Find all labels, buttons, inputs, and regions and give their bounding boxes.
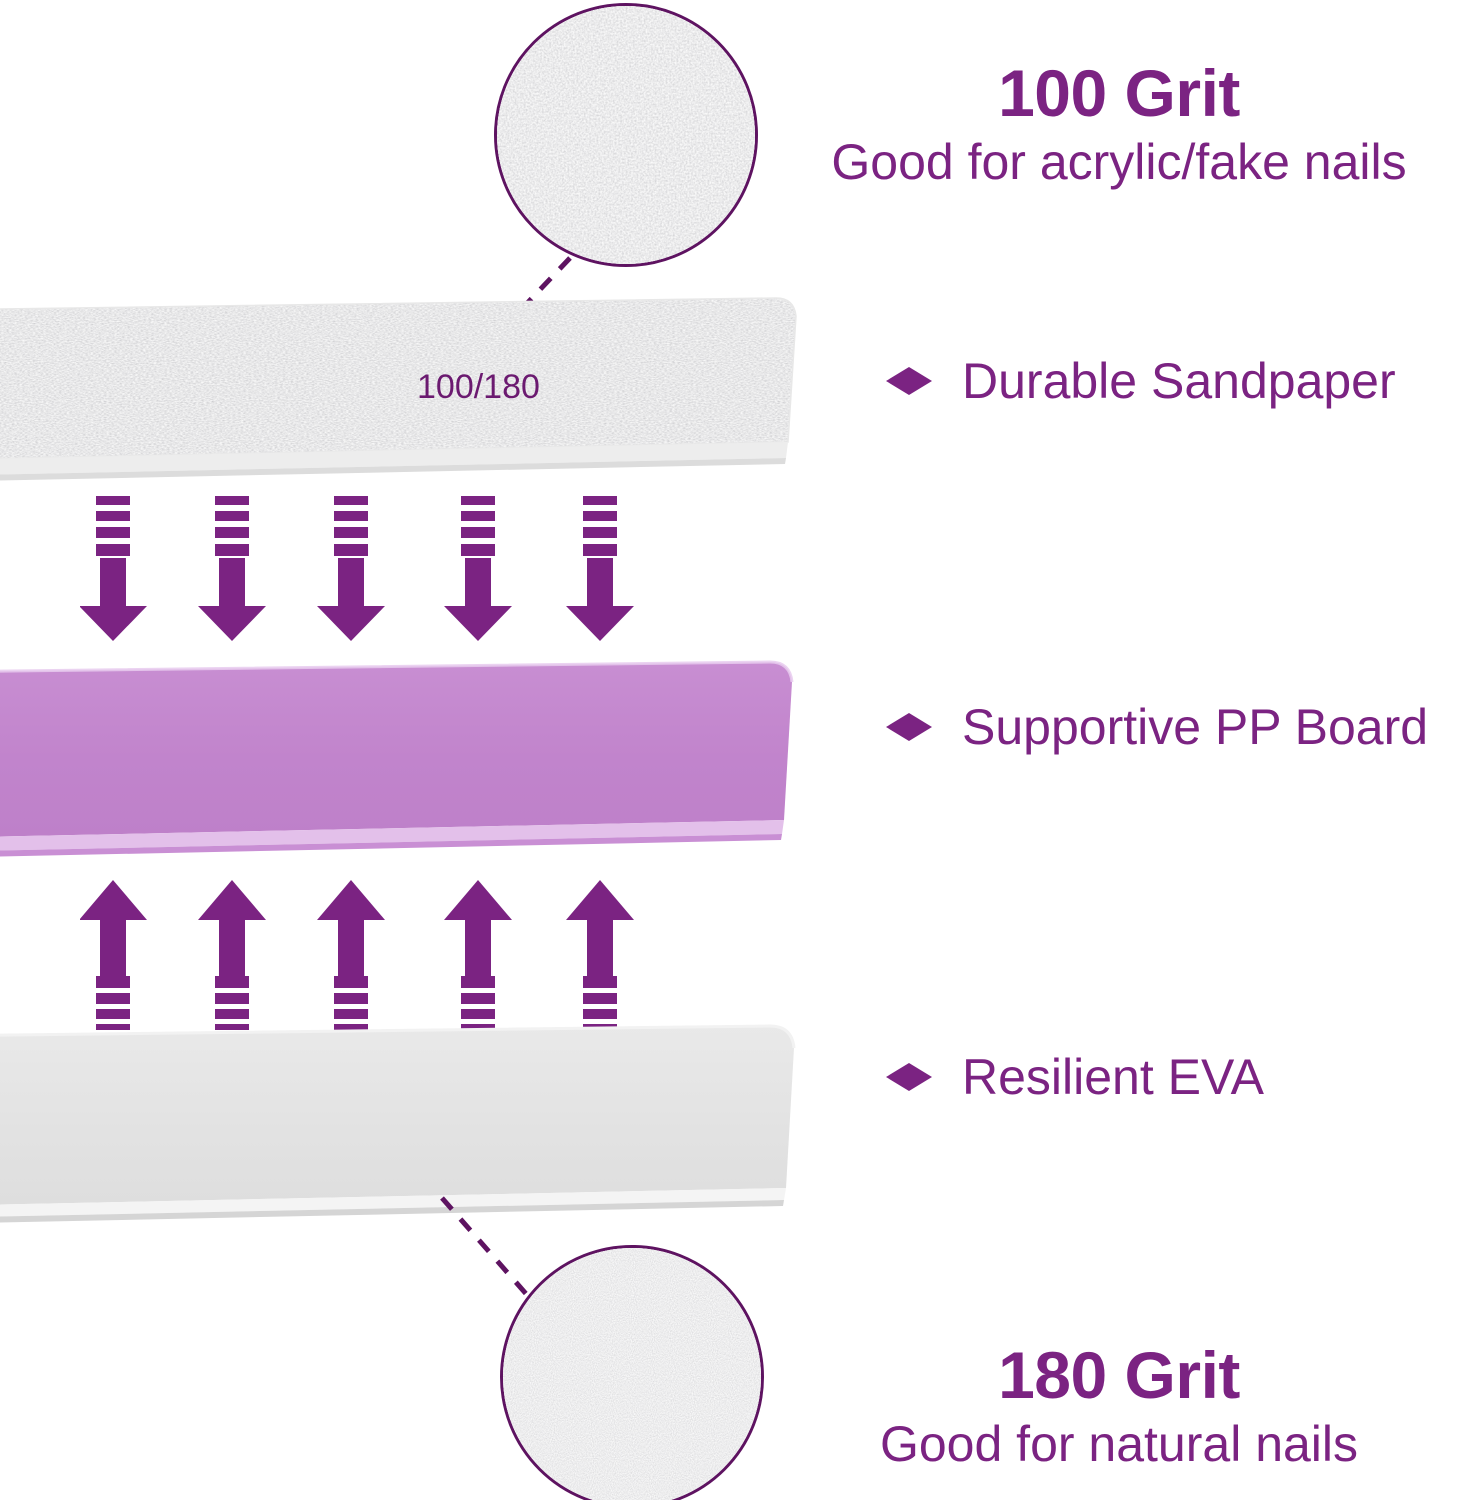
pp-board-layer bbox=[0, 650, 820, 850]
feature-label-resilient-eva: Resilient EVA bbox=[962, 1048, 1264, 1106]
sandpaper-strip-shape bbox=[0, 292, 820, 492]
bottom-grit-callout: 180 Grit Good for natural nails bbox=[760, 1340, 1478, 1471]
diamond-bullet-icon bbox=[886, 713, 932, 741]
infographic-canvas: 100 Grit Good for acrylic/fake nails bbox=[0, 0, 1478, 1500]
fine-grain-texture bbox=[503, 1248, 761, 1500]
pp-board-strip-shape bbox=[0, 650, 820, 850]
eva-strip-shape bbox=[0, 1008, 820, 1218]
arrow-group-down bbox=[80, 496, 680, 646]
diamond-bullet-icon bbox=[886, 367, 932, 395]
diamond-bullet-icon bbox=[886, 1063, 932, 1091]
feature-row-resilient-eva: Resilient EVA bbox=[886, 1048, 1264, 1106]
top-grit-subtitle: Good for acrylic/fake nails bbox=[760, 135, 1478, 189]
bottom-grit-title: 180 Grit bbox=[760, 1340, 1478, 1411]
feature-label-supportive-pp-board: Supportive PP Board bbox=[962, 698, 1428, 756]
arrow-down-dashed-icon bbox=[80, 496, 680, 641]
coarse-grain-texture bbox=[497, 6, 755, 264]
top-grit-callout: 100 Grit Good for acrylic/fake nails bbox=[760, 58, 1478, 189]
magnifier-circle-coarse-grain bbox=[494, 3, 758, 267]
eva-layer bbox=[0, 1008, 820, 1218]
sandpaper-layer bbox=[0, 292, 820, 492]
feature-row-supportive-pp-board: Supportive PP Board bbox=[886, 698, 1428, 756]
magnifier-circle-fine-grain bbox=[500, 1245, 764, 1500]
feature-label-durable-sandpaper: Durable Sandpaper bbox=[962, 352, 1396, 410]
feature-row-durable-sandpaper: Durable Sandpaper bbox=[886, 352, 1396, 410]
top-grit-title: 100 Grit bbox=[760, 58, 1478, 129]
bottom-grit-subtitle: Good for natural nails bbox=[760, 1417, 1478, 1471]
sandpaper-grit-label: 100/180 bbox=[417, 368, 540, 407]
